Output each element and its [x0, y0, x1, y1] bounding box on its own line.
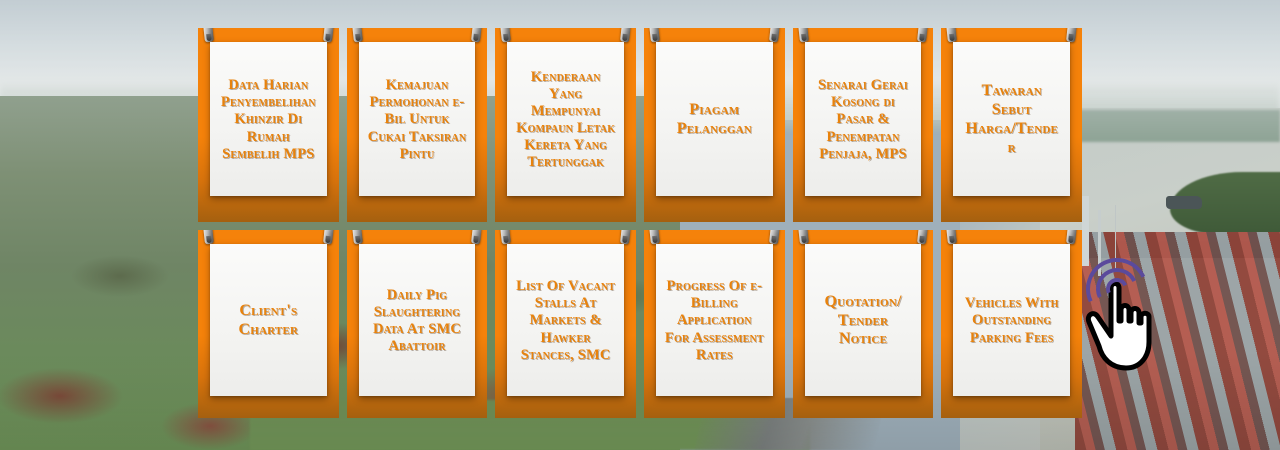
paper-clip-left-icon	[352, 28, 363, 42]
paper-clip-left-icon	[649, 230, 660, 244]
quick-link-card-clients-charter[interactable]: Client's Charter	[210, 244, 327, 396]
paper-clip-right-icon	[1066, 230, 1077, 244]
quick-link-title: List Of Vacant Stalls At Markets & Hawke…	[515, 278, 616, 364]
quick-link-panel-daily-pig-slaughtering-data[interactable]: Daily Pig Slaughtering Data At SMC Abatt…	[347, 230, 488, 418]
paper-clip-right-icon	[1066, 28, 1077, 42]
quick-link-card-piagam-pelanggan[interactable]: Piagam Pelanggan	[656, 42, 773, 196]
quick-link-panel-tawaran-sebut-harga-tender[interactable]: Tawaran Sebut Harga/Tender	[941, 28, 1082, 222]
paper-clip-right-icon	[323, 28, 334, 42]
quick-link-title: Client's Charter	[218, 302, 319, 340]
quick-link-card-kenderaan-kompaun-letak-kereta[interactable]: Kenderaan Yang Mempunyai Kompaun Letak K…	[507, 42, 624, 196]
quick-links-row-2: Client's CharterDaily Pig Slaughtering D…	[198, 230, 1082, 418]
paper-clip-right-icon	[769, 230, 780, 244]
quick-link-card-list-of-vacant-stalls[interactable]: List Of Vacant Stalls At Markets & Hawke…	[507, 244, 624, 396]
quick-link-panel-kenderaan-kompaun-letak-kereta[interactable]: Kenderaan Yang Mempunyai Kompaun Letak K…	[495, 28, 636, 222]
quick-link-panel-quotation-tender-notice[interactable]: Quotation/ Tender Notice	[793, 230, 934, 418]
quick-link-title: Tawaran Sebut Harga/Tender	[961, 82, 1062, 158]
paper-clip-right-icon	[323, 230, 334, 244]
quick-link-card-data-harian-penyembelihan[interactable]: Data Harian Penyembelihan Khinzir Di Rum…	[210, 42, 327, 196]
paper-clip-right-icon	[471, 28, 482, 42]
quick-link-title: Progress Of e-Billing Application For As…	[664, 278, 765, 364]
quick-link-panel-progress-of-e-billing[interactable]: Progress Of e-Billing Application For As…	[644, 230, 785, 418]
paper-clip-left-icon	[203, 28, 214, 42]
quick-link-panel-list-of-vacant-stalls[interactable]: List Of Vacant Stalls At Markets & Hawke…	[495, 230, 636, 418]
quick-link-card-quotation-tender-notice[interactable]: Quotation/ Tender Notice	[805, 244, 922, 396]
quick-link-card-senarai-gerai-kosong[interactable]: Senarai Gerai Kosong di Pasar & Penempat…	[805, 42, 922, 196]
quick-links-page: Data Harian Penyembelihan Khinzir Di Rum…	[0, 0, 1280, 450]
quick-link-title: Senarai Gerai Kosong di Pasar & Penempat…	[813, 77, 914, 163]
quick-link-panel-data-harian-penyembelihan[interactable]: Data Harian Penyembelihan Khinzir Di Rum…	[198, 28, 339, 222]
paper-clip-right-icon	[917, 28, 928, 42]
paper-clip-left-icon	[649, 28, 660, 42]
quick-link-card-tawaran-sebut-harga-tender[interactable]: Tawaran Sebut Harga/Tender	[953, 42, 1070, 196]
paper-clip-left-icon	[946, 230, 957, 244]
quick-link-panel-kemajuan-permohonan-e-bil[interactable]: Kemajuan Permohonan e-Bil Untuk Cukai Ta…	[347, 28, 488, 222]
quick-link-title: Vehicles With Outstanding Parking Fees	[961, 295, 1062, 346]
quick-link-title: Data Harian Penyembelihan Khinzir Di Rum…	[218, 77, 319, 163]
paper-clip-right-icon	[471, 230, 482, 244]
quick-link-card-vehicles-outstanding-parking[interactable]: Vehicles With Outstanding Parking Fees	[953, 244, 1070, 396]
paper-clip-right-icon	[917, 230, 928, 244]
quick-link-panel-senarai-gerai-kosong[interactable]: Senarai Gerai Kosong di Pasar & Penempat…	[793, 28, 934, 222]
paper-clip-left-icon	[798, 230, 809, 244]
quick-link-title: Quotation/ Tender Notice	[813, 293, 914, 350]
quick-link-panel-clients-charter[interactable]: Client's Charter	[198, 230, 339, 418]
paper-clip-right-icon	[620, 28, 631, 42]
quick-link-card-daily-pig-slaughtering-data[interactable]: Daily Pig Slaughtering Data At SMC Abatt…	[359, 244, 476, 396]
paper-clip-left-icon	[500, 28, 511, 42]
quick-link-card-progress-of-e-billing[interactable]: Progress Of e-Billing Application For As…	[656, 244, 773, 396]
paper-clip-left-icon	[352, 230, 363, 244]
paper-clip-right-icon	[620, 230, 631, 244]
paper-clip-left-icon	[946, 28, 957, 42]
paper-clip-right-icon	[769, 28, 780, 42]
paper-clip-left-icon	[798, 28, 809, 42]
quick-link-title: Daily Pig Slaughtering Data At SMC Abatt…	[367, 287, 468, 355]
paper-clip-left-icon	[203, 230, 214, 244]
quick-link-panel-vehicles-outstanding-parking[interactable]: Vehicles With Outstanding Parking Fees	[941, 230, 1082, 418]
quick-link-title: Piagam Pelanggan	[664, 101, 765, 139]
paper-clip-left-icon	[500, 230, 511, 244]
quick-link-card-kemajuan-permohonan-e-bil[interactable]: Kemajuan Permohonan e-Bil Untuk Cukai Ta…	[359, 42, 476, 196]
quick-links-row-1: Data Harian Penyembelihan Khinzir Di Rum…	[198, 28, 1082, 222]
quick-link-title: Kenderaan Yang Mempunyai Kompaun Letak K…	[515, 69, 616, 172]
quick-link-panel-piagam-pelanggan[interactable]: Piagam Pelanggan	[644, 28, 785, 222]
quick-link-title: Kemajuan Permohonan e-Bil Untuk Cukai Ta…	[367, 77, 468, 163]
